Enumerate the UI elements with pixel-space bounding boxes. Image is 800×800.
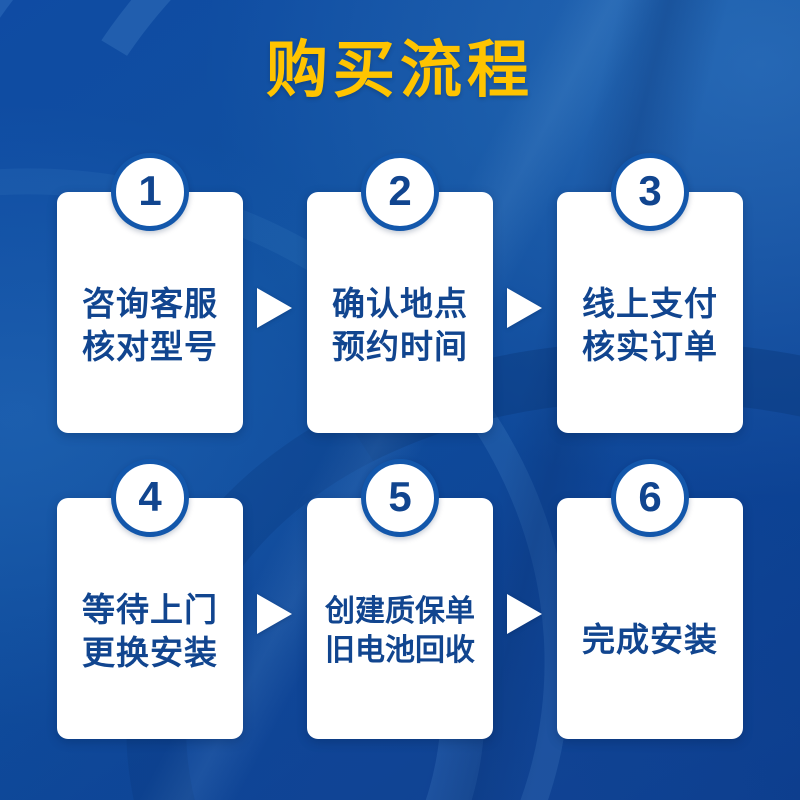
page-title: 购买流程 (0, 40, 800, 102)
step-text-6: 完成安装 (557, 560, 743, 739)
step-text-line: 核对型号 (82, 326, 218, 368)
step-card-6[interactable]: 6 完成安装 (557, 498, 743, 739)
triangle-right-icon (257, 288, 292, 328)
step-number-badge-3: 3 (611, 153, 689, 231)
step-text-line: 等待上门 (82, 589, 218, 631)
step-text-2: 确认地点 预约时间 (307, 254, 493, 433)
step-card-2[interactable]: 2 确认地点 预约时间 (307, 192, 493, 433)
step-text-5: 创建质保单 旧电池回收 (307, 560, 493, 739)
step-text-line: 核实订单 (582, 326, 718, 368)
step-number-badge-1: 1 (111, 153, 189, 231)
steps-row-1: 1 咨询客服 核对型号 2 确认地点 预约时间 (57, 192, 743, 433)
step-number-badge-5: 5 (361, 459, 439, 537)
step-card-4[interactable]: 4 等待上门 更换安装 (57, 498, 243, 739)
purchase-process-poster: 购买流程 1 咨询客服 核对型号 2 (0, 0, 800, 800)
triangle-right-icon (257, 594, 292, 634)
step-number-6: 6 (638, 476, 661, 518)
step-text-line: 旧电池回收 (325, 632, 475, 670)
step-card-5[interactable]: 5 创建质保单 旧电池回收 (307, 498, 493, 739)
step-text-1: 咨询客服 核对型号 (57, 254, 243, 433)
step-text-4: 等待上门 更换安装 (57, 560, 243, 739)
step-number-badge-2: 2 (361, 153, 439, 231)
step-number-3: 3 (638, 170, 661, 212)
steps-row-2: 4 等待上门 更换安装 5 创建质保单 旧电池回收 (57, 498, 743, 739)
triangle-right-icon (507, 594, 542, 634)
triangle-right-icon (507, 288, 542, 328)
step-number-2: 2 (388, 170, 411, 212)
step-text-3: 线上支付 核实订单 (557, 254, 743, 433)
step-number-1: 1 (138, 170, 161, 212)
step-card-3[interactable]: 3 线上支付 核实订单 (557, 192, 743, 433)
step-arrow-5-to-6 (493, 498, 557, 739)
step-number-badge-4: 4 (111, 459, 189, 537)
step-text-line: 更换安装 (82, 632, 218, 674)
step-text-line: 线上支付 (582, 283, 718, 325)
step-text-line: 完成安装 (582, 619, 718, 661)
step-text-line: 咨询客服 (82, 283, 218, 325)
step-arrow-1-to-2 (243, 192, 307, 433)
step-arrow-4-to-5 (243, 498, 307, 739)
step-number-5: 5 (388, 476, 411, 518)
step-arrow-2-to-3 (493, 192, 557, 433)
step-text-line: 预约时间 (332, 326, 468, 368)
steps-grid: 1 咨询客服 核对型号 2 确认地点 预约时间 (57, 192, 743, 739)
step-number-badge-6: 6 (611, 459, 689, 537)
step-text-line: 确认地点 (332, 283, 468, 325)
step-card-1[interactable]: 1 咨询客服 核对型号 (57, 192, 243, 433)
step-number-4: 4 (138, 476, 161, 518)
step-text-line: 创建质保单 (325, 593, 475, 631)
